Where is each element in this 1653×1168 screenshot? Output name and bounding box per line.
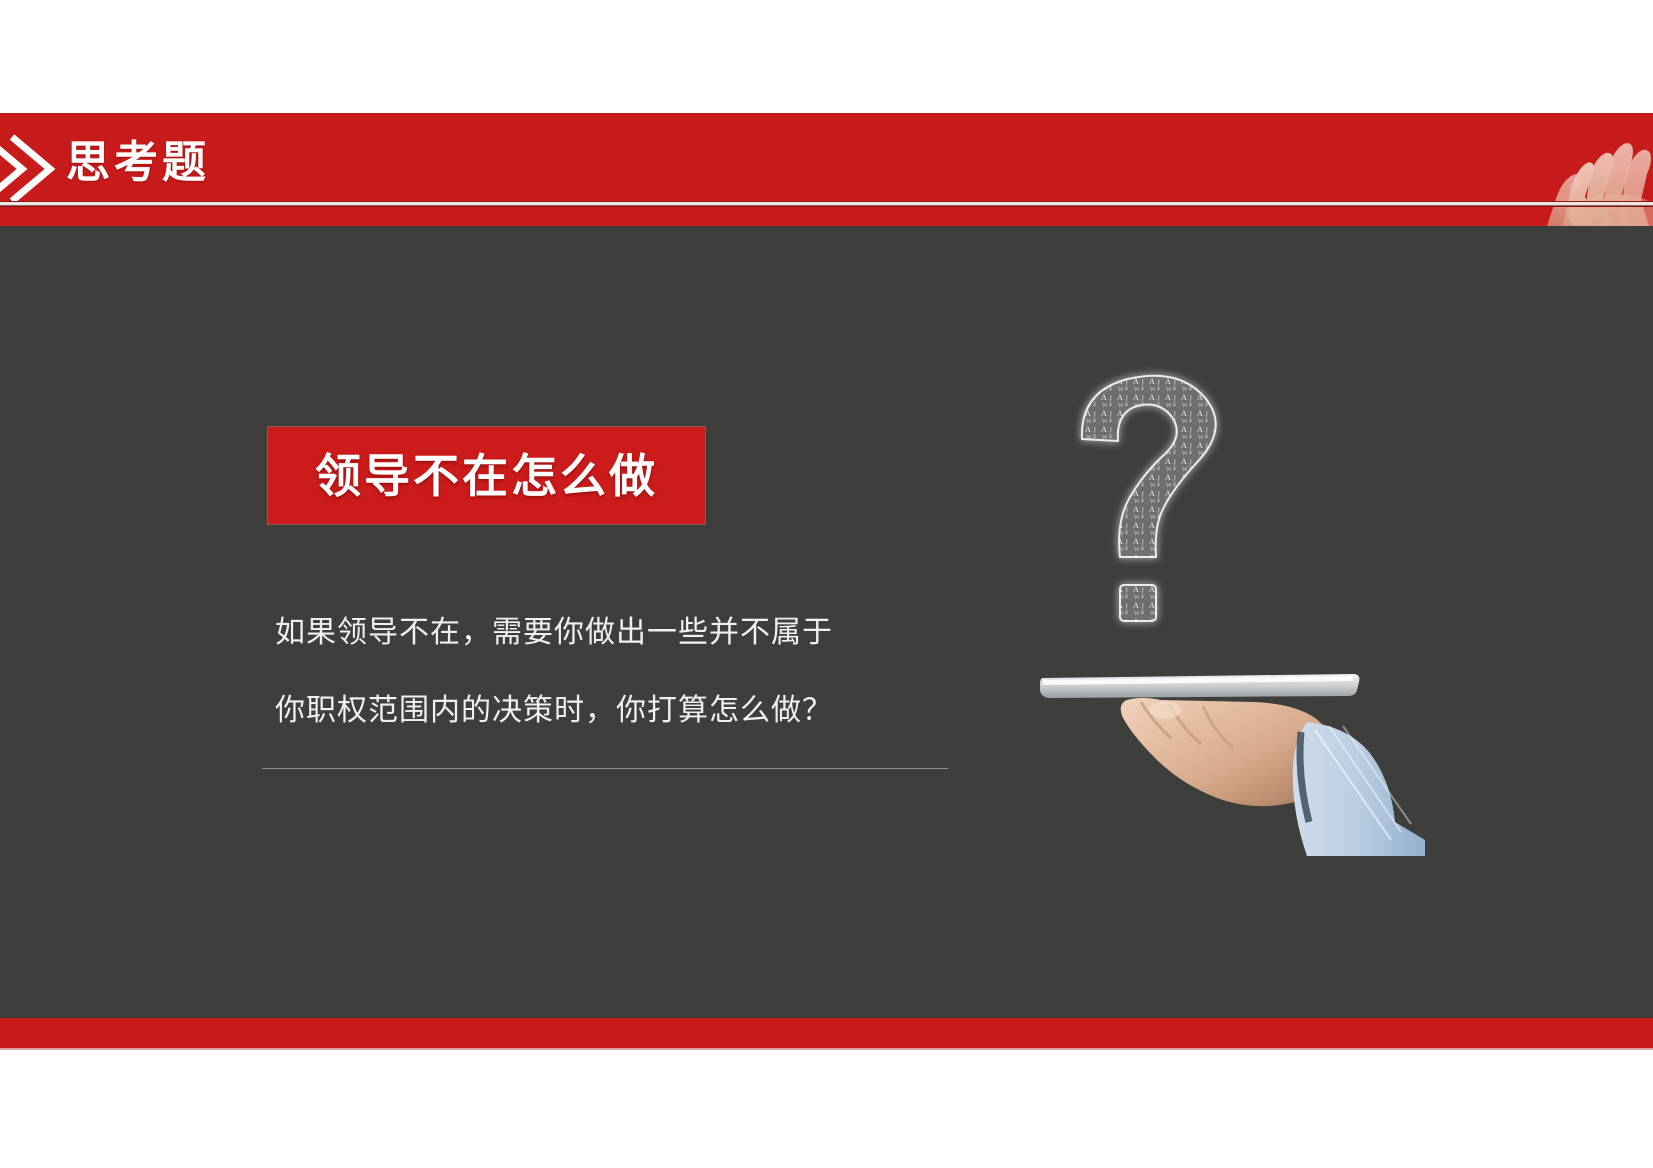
paragraph-line-1: 如果领导不在，需要你做出一些并不属于 [275,594,955,672]
paragraph-line-2: 你职权范围内的决策时，你打算怎么做？ [275,672,955,750]
question-paragraph: 如果领导不在，需要你做出一些并不属于 你职权范围内的决策时，你打算怎么做？ [275,594,955,750]
header-banner: 思考题 [0,113,1653,226]
question-title-text: 领导不在怎么做 [315,448,658,504]
double-chevron-right-icon [0,129,60,209]
hand-holding-tablet-icon [955,626,1425,856]
slide-canvas: 思考题 [0,0,1653,1168]
content-panel: 领导不在怎么做 如果领导不在，需要你做出一些并不属于 你职权范围内的决策时，你打… [0,226,1653,1018]
question-mark-typography-icon: A z W j [1020,361,1270,651]
section-divider [262,768,948,769]
footer-banner [0,1018,1653,1049]
page-title: 思考题 [66,133,210,193]
tablet-device-icon [1040,674,1359,698]
header-divider-stripe [0,201,1653,207]
question-title-box: 领导不在怎么做 [268,427,705,524]
joined-hands-teamwork-photo [1443,130,1653,226]
footer-hairline [0,1048,1653,1050]
